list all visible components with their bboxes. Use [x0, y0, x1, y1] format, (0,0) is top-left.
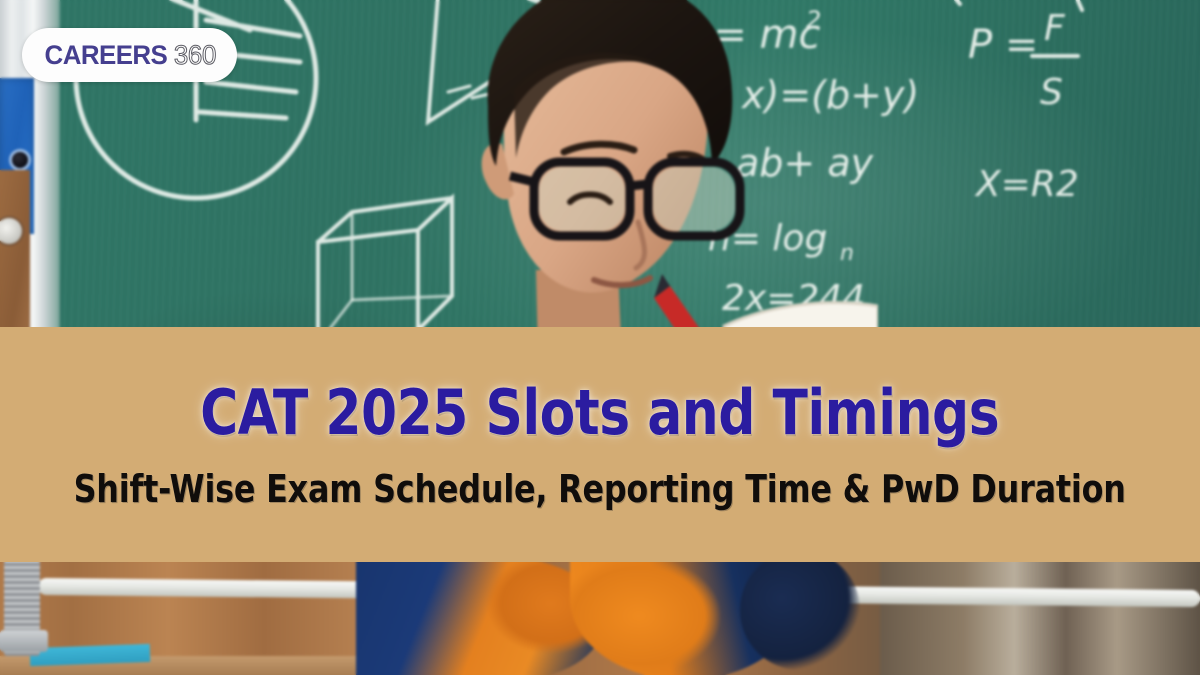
- careers360-logo[interactable]: CAREERS 360: [22, 28, 237, 82]
- logo-word-careers: CAREERS: [45, 40, 168, 71]
- logo-word-360: 360: [174, 40, 216, 71]
- featured-image-canvas: e = mc 2 x)=(b+y) ab+ ay n= log n 2x=244…: [0, 0, 1200, 675]
- banner-subtitle: Shift-Wise Exam Schedule, Reporting Time…: [74, 470, 1126, 508]
- banner-title: CAT 2025 Slots and Timings: [200, 382, 999, 444]
- title-banner: CAT 2025 Slots and Timings Shift-Wise Ex…: [0, 327, 1200, 562]
